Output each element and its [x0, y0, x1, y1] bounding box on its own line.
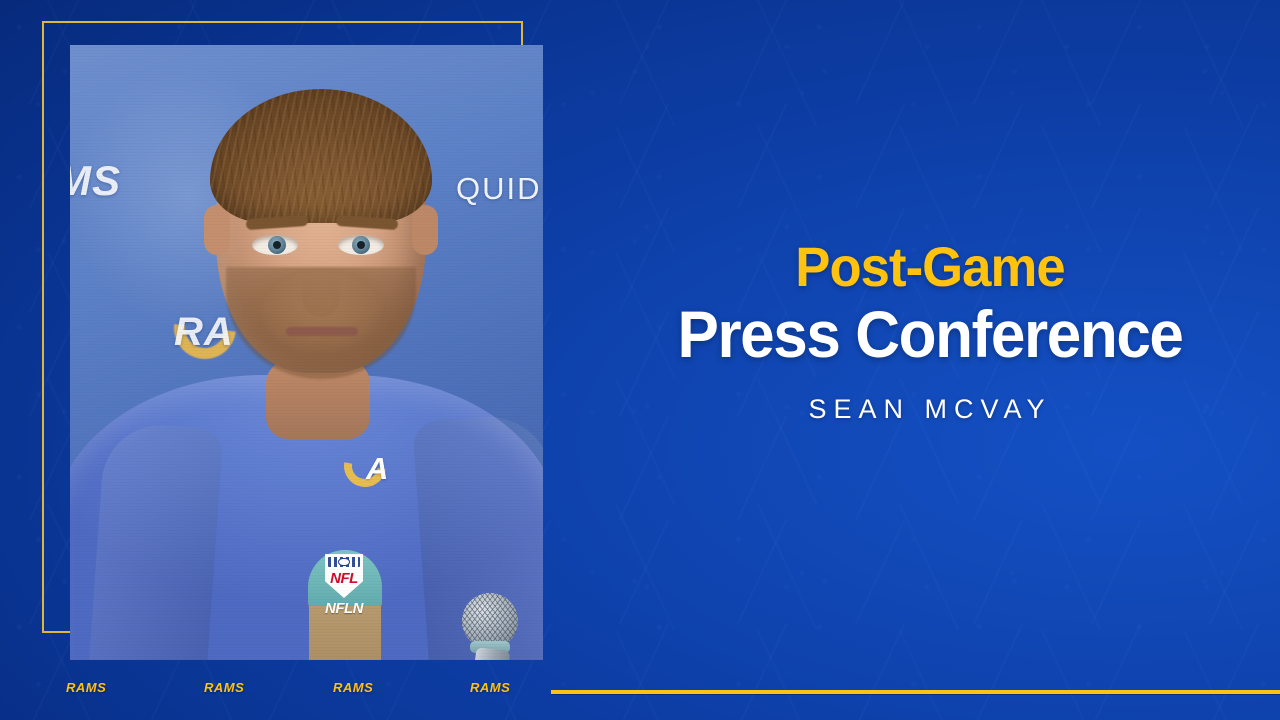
- subject-mouth: [286, 327, 358, 336]
- shirt-la-rams-logo: A: [342, 443, 412, 491]
- backdrop-rams-wordmark-mid: RA: [174, 310, 234, 355]
- rams-tick-1: RAMS: [66, 680, 106, 695]
- subject-eye-right: [338, 235, 384, 255]
- headline-text: Press Conference: [620, 301, 1240, 368]
- iris-right: [352, 236, 370, 254]
- nfl-network-label: NFLN: [308, 600, 380, 617]
- rams-tick-4: RAMS: [470, 680, 510, 695]
- pupil-right: [357, 241, 365, 249]
- title-block: Post-Game Press Conference SEAN MCVAY: [600, 238, 1260, 425]
- nfl-microphone: NFL NFLN: [308, 550, 382, 660]
- press-conference-photo: MS QUIDEL RA: [70, 45, 543, 660]
- nfl-shield-football-icon: [338, 558, 350, 566]
- iris-left: [268, 236, 286, 254]
- gold-rule-divider: [551, 690, 1280, 694]
- broadcast-title-card: MS QUIDEL RA: [0, 0, 1280, 720]
- rams-tick-3: RAMS: [333, 680, 373, 695]
- rams-tick-2: RAMS: [204, 680, 244, 695]
- kicker-text: Post-Game: [620, 238, 1240, 295]
- subject-ear-left: [204, 205, 230, 255]
- nfl-shield-label: NFL: [325, 570, 363, 587]
- subject-eye-left: [252, 235, 298, 255]
- handheld-microphone: [458, 593, 520, 660]
- backdrop-rams-wordmark-top: MS: [70, 157, 121, 205]
- backdrop-sponsor-wordmark: QUIDEL: [456, 171, 543, 207]
- subject-ear-right: [412, 205, 438, 255]
- pupil-left: [273, 241, 281, 249]
- subject-name-text: SEAN MCVAY: [600, 394, 1260, 425]
- shirt-logo-letter: A: [366, 451, 386, 487]
